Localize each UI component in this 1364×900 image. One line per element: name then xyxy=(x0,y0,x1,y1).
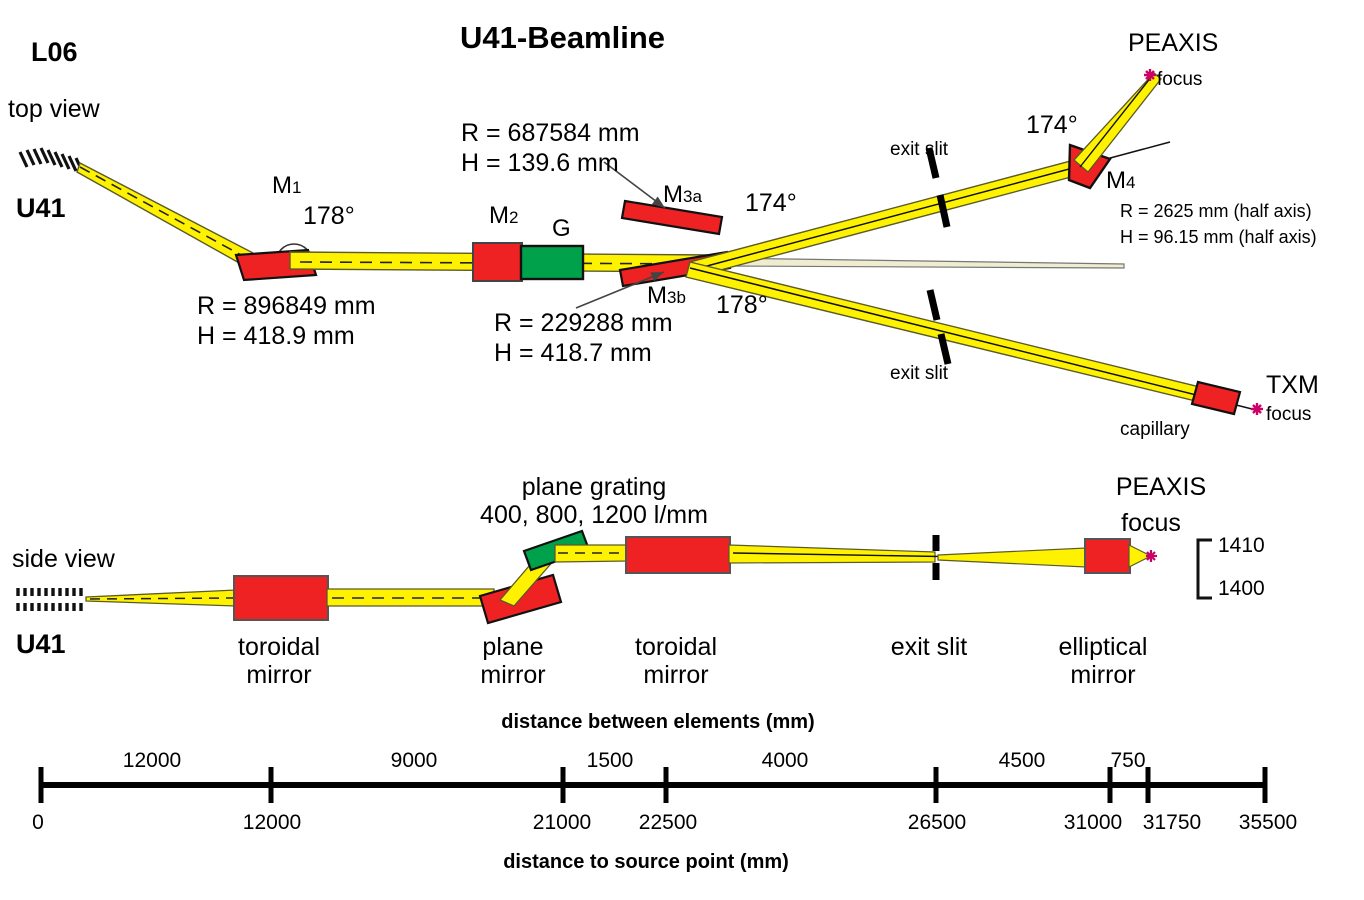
mirror-m2 xyxy=(473,243,522,281)
mirror-m1-label-sub: 1 xyxy=(292,178,301,197)
plane-grating-caption-line2: 400, 800, 1200 l/mm xyxy=(480,502,708,528)
capillary-label: capillary xyxy=(1120,420,1190,440)
m3a-angle-label: 174° xyxy=(745,190,797,216)
diagram-graphics xyxy=(0,0,1364,900)
scale-axis-group xyxy=(41,767,1265,803)
m4-height-label: H = 96.15 mm (half axis) xyxy=(1120,228,1317,247)
exit-slit-lower-label: exit slit xyxy=(890,364,948,384)
side-bracket xyxy=(1198,540,1212,598)
side-component-4-line1: elliptical xyxy=(1059,634,1148,660)
m3a-radius-label: R = 687584 mm xyxy=(461,120,640,146)
mirror-m1-label: M1 xyxy=(272,173,301,198)
straight-through-reference xyxy=(722,258,1124,268)
scale-tick-1: 12000 xyxy=(243,812,301,834)
side-component-1-line2: mirror xyxy=(480,662,545,688)
m4-angle-label: 174° xyxy=(1026,112,1078,138)
scale-gap-1: 9000 xyxy=(391,750,438,772)
side-bracket-value-1: 1400 xyxy=(1218,578,1265,600)
scale-gap-3: 4000 xyxy=(762,750,809,772)
mirror-m4-label-sub: 4 xyxy=(1126,173,1135,192)
side-component-0-line1: toroidal xyxy=(238,634,320,660)
m3b-angle-label: 178° xyxy=(716,292,768,318)
mirror-m3a-label-text: M xyxy=(663,181,683,208)
side-beam-axis-1 xyxy=(90,598,235,599)
peaxis-top-focus-label: focus xyxy=(1157,70,1202,90)
beam-axis-m4-focus xyxy=(1080,76,1152,167)
undulator-source-side-icon xyxy=(18,588,81,611)
undulator-source-top-icon xyxy=(20,148,83,173)
grating-g xyxy=(521,246,583,279)
side-peaxis-focus-star-icon xyxy=(1146,550,1157,562)
m1-radius-label: R = 896849 mm xyxy=(197,293,376,319)
beamline-diagram: L06 U41-Beamline top view U41 M1 178° R … xyxy=(0,0,1364,900)
scale-gap-0: 12000 xyxy=(123,750,181,772)
side-toroidal-mirror-1 xyxy=(234,576,328,620)
top-view-label: top view xyxy=(8,96,100,122)
mirror-m3b-label: M3b xyxy=(647,283,686,308)
scale-tick-6: 31750 xyxy=(1143,812,1201,834)
txm-label: TXM xyxy=(1266,372,1319,398)
capillary-element xyxy=(1192,382,1240,414)
mirror-m4-label-text: M xyxy=(1106,167,1126,194)
scale-tick-7: 35500 xyxy=(1239,812,1297,834)
scale-tick-3: 22500 xyxy=(639,812,697,834)
scale-tick-2: 21000 xyxy=(533,812,591,834)
side-component-2-line2: mirror xyxy=(643,662,708,688)
scale-gap-2: 1500 xyxy=(587,750,634,772)
side-view-label: side view xyxy=(12,546,115,572)
grating-g-label: G xyxy=(552,216,571,241)
side-elliptical-mirror xyxy=(1085,539,1130,573)
beam-axis-lower-branch xyxy=(690,268,1256,410)
plane-grating-caption-line1: plane grating xyxy=(522,474,667,500)
m3a-height-label: H = 139.6 mm xyxy=(461,150,619,176)
scale-tick-5: 31000 xyxy=(1064,812,1122,834)
mirror-m3b-label-sub: 3b xyxy=(667,288,686,307)
peaxis-side-focus-label: focus xyxy=(1121,510,1181,536)
m1-angle-label: 178° xyxy=(303,203,355,229)
mirror-m1-label-text: M xyxy=(272,172,292,199)
side-bracket-value-0: 1410 xyxy=(1218,535,1265,557)
side-component-1-line1: plane xyxy=(482,634,543,660)
peaxis-top-label: PEAXIS xyxy=(1128,30,1218,56)
mirror-m2-label: M2 xyxy=(489,203,518,228)
mirror-m4-label: M4 xyxy=(1106,168,1135,193)
scale-gap-5: 750 xyxy=(1110,750,1145,772)
mirror-m3a-label-sub: 3a xyxy=(683,187,702,206)
scale-gap-4: 4500 xyxy=(999,750,1046,772)
m1-height-label: H = 418.9 mm xyxy=(197,323,355,349)
side-view-group xyxy=(18,531,1212,623)
side-component-2-line1: toroidal xyxy=(635,634,717,660)
top-view-source-label: U41 xyxy=(16,194,66,222)
side-view-source-label: U41 xyxy=(16,630,66,658)
m3b-radius-label: R = 229288 mm xyxy=(494,310,673,336)
side-component-0-line2: mirror xyxy=(246,662,311,688)
side-beam-slit-to-elliptical xyxy=(938,548,1086,567)
mirror-m3b-label-text: M xyxy=(647,282,667,309)
scale-tick-4: 26500 xyxy=(908,812,966,834)
exit-slit-upper-label: exit slit xyxy=(890,140,948,160)
txm-focus-star-icon xyxy=(1251,403,1263,415)
m3b-height-label: H = 418.7 mm xyxy=(494,340,652,366)
figure-title: U41-Beamline xyxy=(460,22,665,55)
side-toroidal-mirror-2 xyxy=(626,537,730,573)
side-component-4-line2: mirror xyxy=(1070,662,1135,688)
mirror-m2-label-text: M xyxy=(489,202,509,229)
side-component-3-line1: exit slit xyxy=(891,634,967,660)
corner-label: L06 xyxy=(31,38,78,66)
m4-radius-label: R = 2625 mm (half axis) xyxy=(1120,202,1312,221)
scale-tick-0: 0 xyxy=(32,812,44,834)
scale-caption-bottom: distance to source point (mm) xyxy=(503,852,789,873)
mirror-m2-label-sub: 2 xyxy=(509,208,518,227)
scale-caption-top: distance between elements (mm) xyxy=(501,712,814,733)
mirror-m3a-label: M3a xyxy=(663,182,702,207)
peaxis-side-label: PEAXIS xyxy=(1116,474,1206,500)
txm-focus-label: focus xyxy=(1266,405,1311,425)
